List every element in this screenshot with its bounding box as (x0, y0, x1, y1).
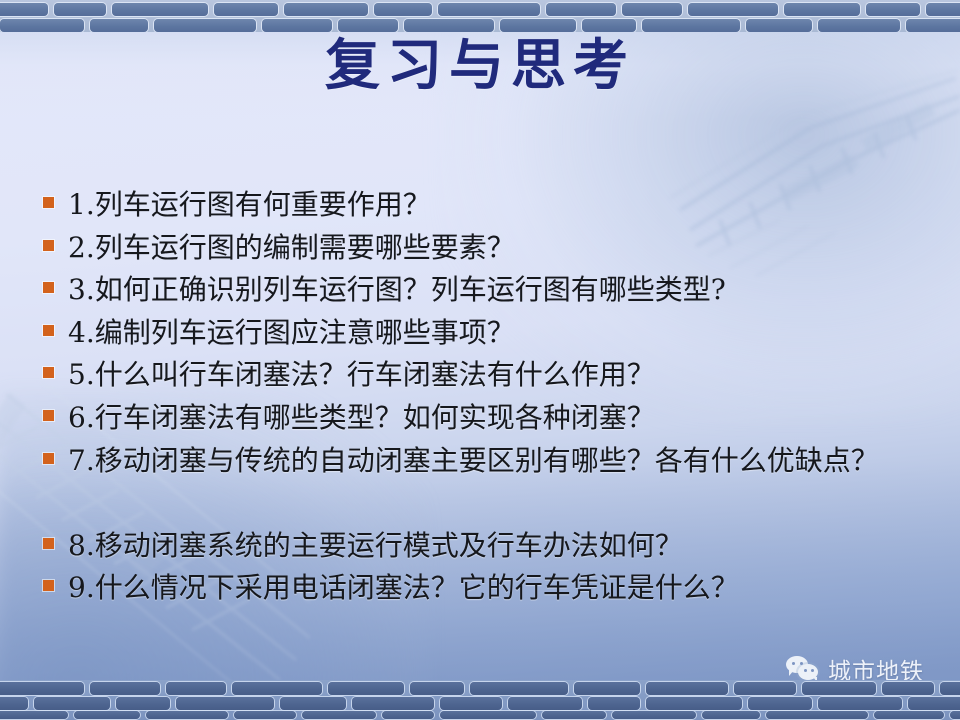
brick (166, 682, 226, 695)
brick (410, 682, 464, 695)
bullet-square-icon (43, 538, 54, 549)
brick (176, 697, 274, 710)
brick (926, 3, 960, 16)
bullet-square-icon (43, 367, 54, 378)
question-text: 4.编制列车运行图应注意哪些事项？ (68, 312, 515, 355)
brick (34, 697, 110, 710)
bullet-square-icon (43, 282, 54, 293)
question-text: 7.移动闭塞与传统的自动闭塞主要区别有哪些？各有什么优缺点？ (68, 440, 926, 483)
question-text: 3.如何正确识别列车运行图？列车运行图有哪些类型? (68, 269, 726, 312)
brick (374, 3, 432, 16)
brick (702, 711, 760, 719)
bullet-square-icon (43, 197, 54, 208)
brick (802, 682, 876, 695)
brick (0, 711, 68, 719)
brick (748, 697, 812, 710)
brick (146, 711, 228, 719)
brick (438, 3, 540, 16)
brick (546, 3, 616, 16)
brick (866, 3, 920, 16)
brick (908, 697, 960, 710)
brick (440, 697, 502, 710)
list-item: 9.什么情况下采用电话闭塞法？它的行车凭证是什么？ (36, 567, 926, 610)
brick (404, 19, 494, 32)
list-item: 7.移动闭塞与传统的自动闭塞主要区别有哪些？各有什么优缺点？ (36, 440, 926, 525)
brick (214, 3, 278, 16)
question-list: 1.列车运行图有何重要作用？ 2.列车运行图的编制需要哪些要素？ 3.如何正确识… (36, 184, 926, 610)
bullet-square-icon (43, 453, 54, 464)
brick (90, 19, 148, 32)
brick (688, 3, 778, 16)
brick (338, 19, 398, 32)
brick-row (0, 19, 960, 32)
brick (588, 697, 640, 710)
brick (582, 19, 636, 32)
brick (874, 711, 944, 719)
brick (302, 711, 376, 719)
brick (818, 697, 902, 710)
brick (234, 711, 296, 719)
list-item: 8.移动闭塞系统的主要运行模式及行车办法如何？ (36, 525, 926, 568)
brick (440, 711, 536, 719)
brick (882, 682, 934, 695)
brick (0, 19, 84, 32)
brick (262, 19, 332, 32)
list-item: 6.行车闭塞法有哪些类型？如何实现各种闭塞？ (36, 397, 926, 440)
brick-row (0, 3, 960, 16)
slide-canvas: 复习与思考 1.列车运行图有何重要作用？ 2.列车运行图的编制需要哪些要素？ 3… (0, 0, 960, 720)
list-item: 5.什么叫行车闭塞法？行车闭塞法有什么作用？ (36, 354, 926, 397)
list-item: 4.编制列车运行图应注意哪些事项？ (36, 312, 926, 355)
question-text: 5.什么叫行车闭塞法？行车闭塞法有什么作用？ (68, 354, 655, 397)
brick (382, 711, 434, 719)
brick (646, 697, 742, 710)
brick (508, 697, 582, 710)
question-text: 6.行车闭塞法有哪些类型？如何实现各种闭塞？ (68, 397, 655, 440)
brick (612, 711, 696, 719)
brick (470, 682, 568, 695)
wechat-icon (786, 656, 820, 682)
brick (154, 19, 256, 32)
brick (622, 3, 682, 16)
list-item: 2.列车运行图的编制需要哪些要素？ (36, 227, 926, 270)
brick (950, 711, 960, 719)
brick (352, 697, 434, 710)
brick (646, 682, 728, 695)
brick (574, 682, 640, 695)
bottom-brick-border (0, 680, 960, 720)
brick (818, 19, 900, 32)
list-item: 1.列车运行图有何重要作用？ (36, 184, 926, 227)
brick (0, 697, 28, 710)
brick (54, 3, 106, 16)
list-item: 3.如何正确识别列车运行图？列车运行图有哪些类型? (36, 269, 926, 312)
brick-row (0, 697, 960, 710)
brick (642, 19, 740, 32)
brick-row (0, 682, 960, 695)
top-brick-border (0, 0, 960, 32)
bullet-square-icon (43, 325, 54, 336)
page-title: 复习与思考 (0, 36, 960, 93)
brick (284, 3, 368, 16)
bullet-square-icon (43, 580, 54, 591)
brick (766, 711, 868, 719)
question-text: 2.列车运行图的编制需要哪些要素？ (68, 227, 515, 270)
bullet-square-icon (43, 410, 54, 421)
brick (112, 3, 208, 16)
brick (116, 697, 170, 710)
bullet-square-icon (43, 240, 54, 251)
brick (74, 711, 140, 719)
brick (0, 682, 84, 695)
brick (734, 682, 796, 695)
brick (0, 3, 48, 16)
brick (940, 682, 960, 695)
brick (746, 19, 812, 32)
brick (542, 711, 606, 719)
question-text: 8.移动闭塞系统的主要运行模式及行车办法如何？ (68, 525, 683, 568)
brick (906, 19, 960, 32)
brick (328, 682, 404, 695)
brick-row (0, 711, 960, 719)
brick (784, 3, 860, 16)
brick (500, 19, 576, 32)
brick (232, 682, 322, 695)
question-text: 1.列车运行图有何重要作用？ (68, 184, 431, 227)
brick (90, 682, 160, 695)
brick (280, 697, 346, 710)
question-text: 9.什么情况下采用电话闭塞法？它的行车凭证是什么？ (68, 567, 739, 610)
